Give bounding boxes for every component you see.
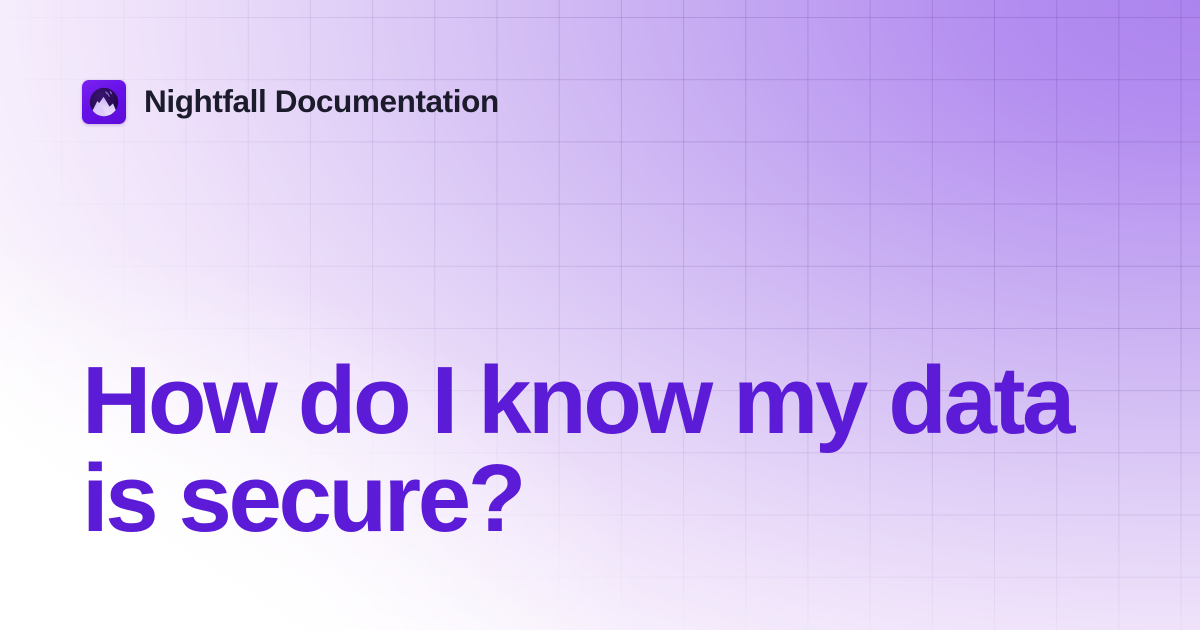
nightfall-mountain-logo-icon — [82, 80, 126, 124]
og-preview-card: Nightfall Documentation How do I know my… — [0, 0, 1200, 630]
brand-title: Nightfall Documentation — [144, 86, 499, 118]
page-title: How do I know my data is secure? — [82, 352, 1142, 548]
brand-header[interactable]: Nightfall Documentation — [82, 80, 499, 124]
